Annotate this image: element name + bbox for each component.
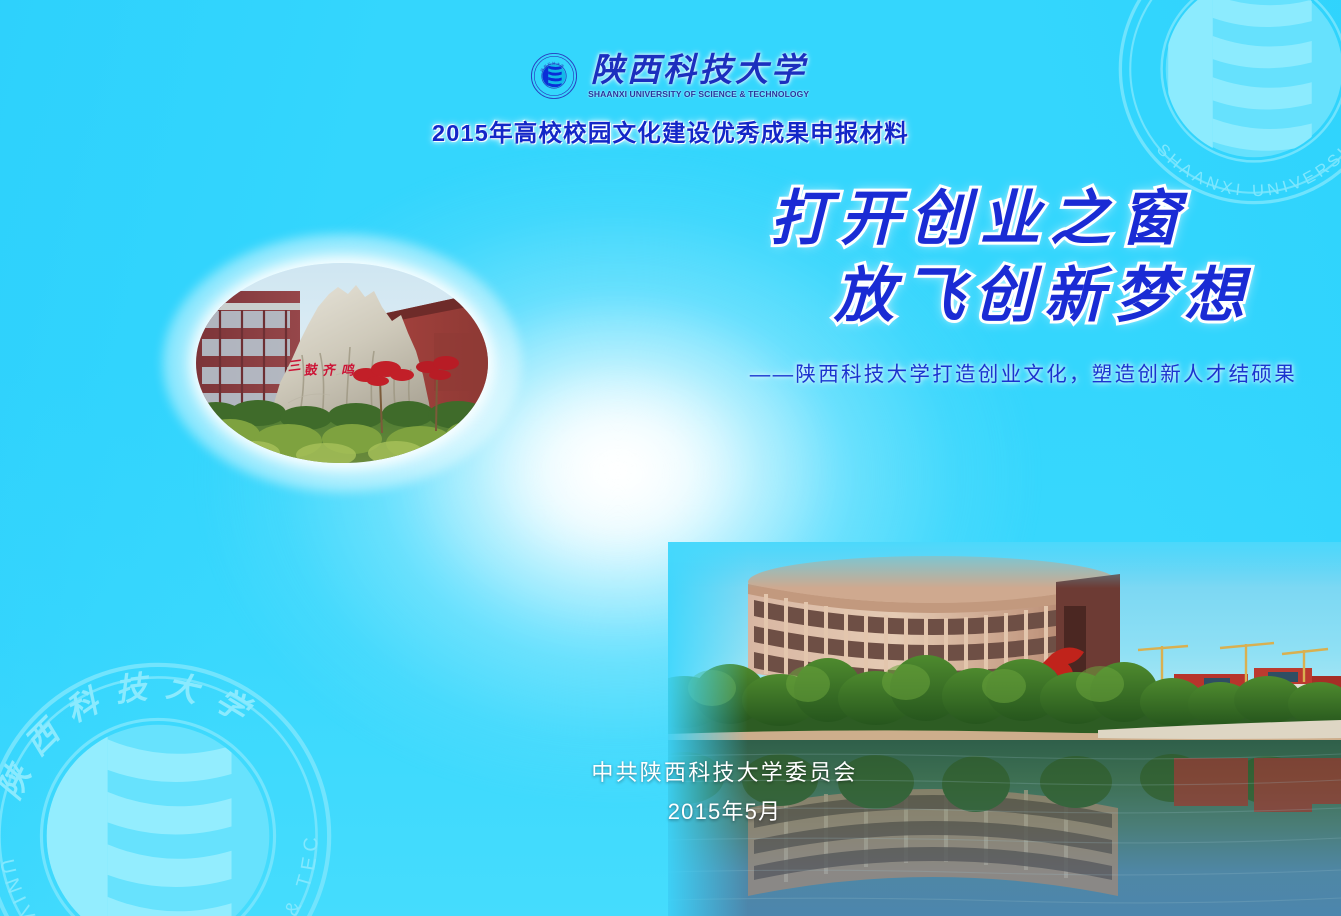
credit-date: 2015年5月 — [0, 794, 1341, 826]
main-title: 打开创业之窗 放飞创新梦想 — [679, 186, 1299, 330]
cover-page: SHAANXI UNIVERSITY OF SCIENCE 陕西科技大学 UNI… — [0, 0, 1341, 916]
university-seal-icon: 陕西科技大学 — [530, 52, 578, 100]
title-line-1: 打开创业之窗 — [679, 186, 1299, 253]
credit-organization: 中共陕西科技大学委员会 — [0, 755, 1341, 787]
campus-rock-sculpture-photo: 三 鼓 齐 鸣 陕科大 — [196, 263, 488, 463]
university-logotype: 陕西科技大学 SHAANXI UNIVERSITY OF SCIENCE & T… — [587, 53, 810, 99]
campus-library-lake-photo — [668, 542, 1341, 916]
university-logo: 陕西科技大学 陕西科技大学 SHAANXI UNIVERSITY OF SCIE… — [530, 52, 810, 100]
header: 陕西科技大学 陕西科技大学 SHAANXI UNIVERSITY OF SCIE… — [0, 52, 1341, 148]
university-name-en: SHAANXI UNIVERSITY OF SCIENCE & TECHNOLO… — [589, 90, 810, 99]
submission-banner: 2015年高校校园文化建设优秀成果申报材料 — [432, 114, 909, 148]
title-line-2: 放飞创新梦想 — [679, 263, 1299, 330]
credit-block: 中共陕西科技大学委员会 2015年5月 — [0, 755, 1341, 826]
university-name-cn: 陕西科技大学 — [591, 53, 807, 86]
title-subtitle: ——陕西科技大学打造创业文化，塑造创新人才结硕果 — [750, 357, 1297, 387]
oval-photo-frame: 三 鼓 齐 鸣 陕科大 — [196, 263, 488, 463]
